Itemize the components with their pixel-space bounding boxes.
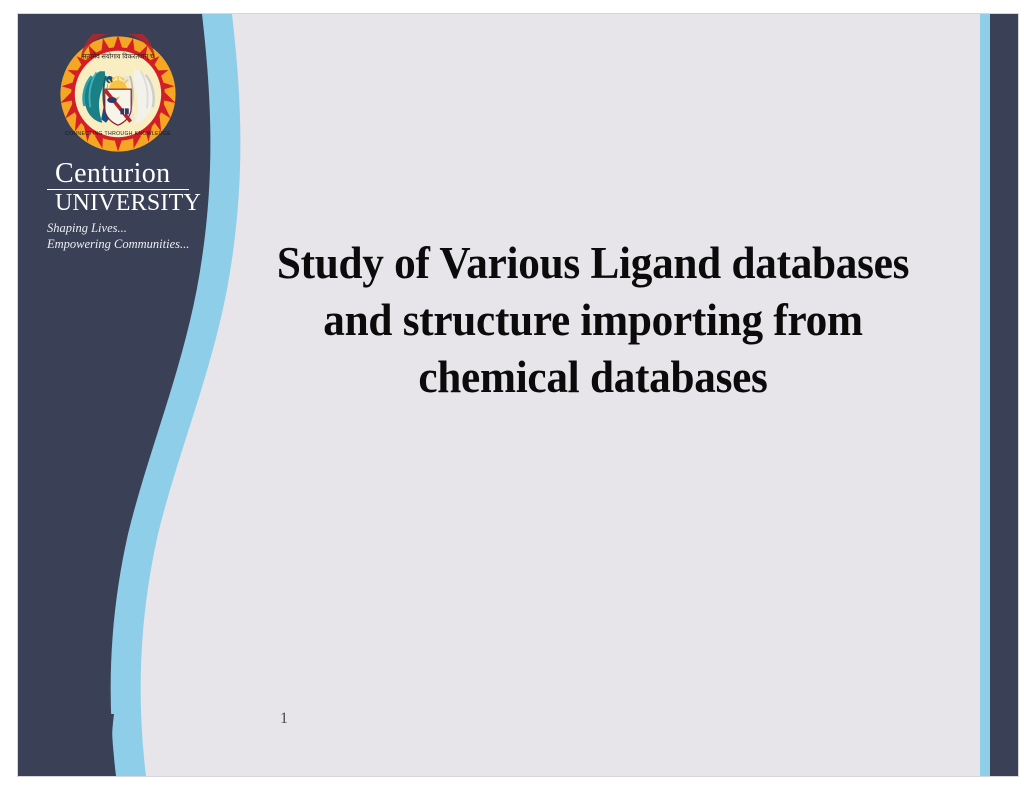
title-line-1: Study of Various Ligand databases	[277, 237, 909, 288]
page-number: 1	[280, 710, 288, 728]
presentation-slide: सत्यमेव संयोगाय विकरतवान् च CONNECTING T…	[18, 14, 1018, 776]
brand-block: सत्यमेव संयोगाय विकरतवान् च CONNECTING T…	[34, 34, 202, 252]
page-title: Study of Various Ligand databases and st…	[222, 234, 965, 405]
navy-bottom-block	[18, 714, 116, 776]
brand-tagline-empowering-communities: Empowering Communities...	[39, 237, 197, 253]
right-navy-stripe	[990, 14, 1018, 776]
title-line-2: and structure importing from	[323, 294, 862, 345]
emblem-motto-bottom-text: CONNECTING THROUGH KNOWLEDGE	[65, 131, 171, 137]
title-block: Study of Various Ligand databases and st…	[198, 234, 988, 405]
emblem-book-icon	[120, 108, 128, 114]
brand-tagline-shaping-lives: Shaping Lives...	[39, 221, 197, 237]
centurion-university-logo-icon: सत्यमेव संयोगाय विकरतवान् च CONNECTING T…	[58, 34, 178, 154]
title-line-3: chemical databases	[418, 351, 767, 402]
brand-name-primary: Centurion	[47, 160, 189, 190]
brand-name-secondary: UNIVERSITY	[47, 191, 189, 216]
slide-canvas: सत्यमेव संयोगाय विकरतवान् च CONNECTING T…	[0, 0, 1024, 791]
emblem-motto-top-text: सत्यमेव संयोगाय विकरतवान् च	[82, 53, 155, 61]
